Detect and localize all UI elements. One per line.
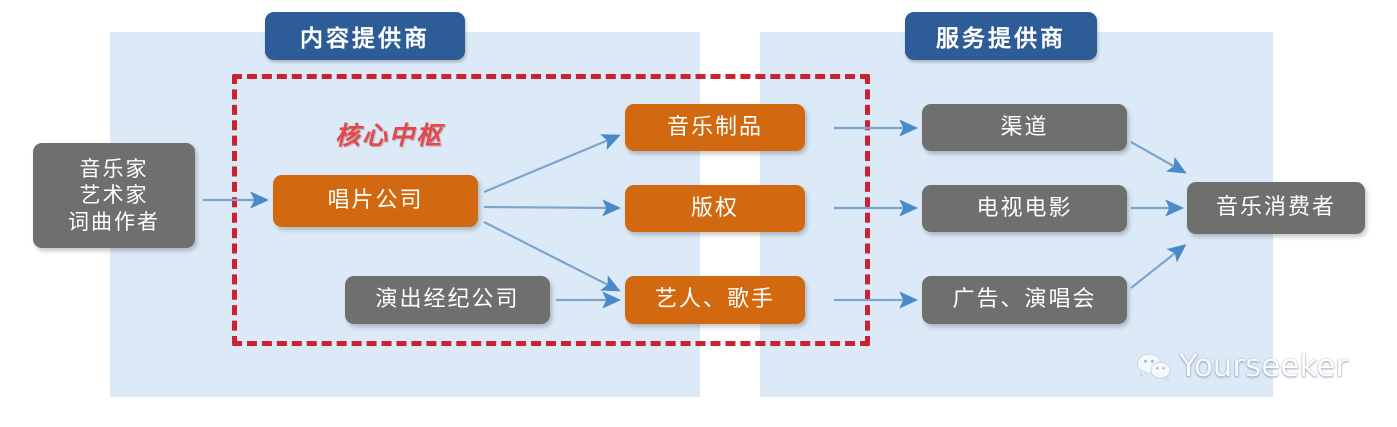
node-label-company[interactable]: 唱片公司: [273, 175, 478, 227]
wechat-icon: [1137, 352, 1171, 381]
node-creators-line-2: 艺术家: [80, 182, 149, 208]
node-creators[interactable]: 音乐家 艺术家 词曲作者: [33, 143, 195, 248]
node-channel[interactable]: 渠道: [922, 104, 1127, 151]
node-tv-film[interactable]: 电视电影: [922, 185, 1127, 232]
section-header-service-provider: 服务提供商: [905, 12, 1097, 60]
section-header-content-provider: 内容提供商: [265, 12, 465, 60]
node-creators-line-3: 词曲作者: [68, 209, 160, 235]
watermark-text: Yourseeker: [1179, 348, 1348, 384]
diagram-canvas: 内容提供商 服务提供商 核心中枢 音乐家 艺术家 词曲作者 唱片公司: [0, 0, 1397, 427]
node-performance-agency[interactable]: 演出经纪公司: [345, 276, 550, 324]
node-artists-singers[interactable]: 艺人、歌手: [625, 276, 805, 324]
node-creators-line-1: 音乐家: [80, 156, 149, 182]
node-copyright[interactable]: 版权: [625, 185, 805, 232]
node-music-product[interactable]: 音乐制品: [625, 104, 805, 151]
node-ads-concert[interactable]: 广告、演唱会: [922, 276, 1127, 324]
node-music-consumers[interactable]: 音乐消费者: [1187, 182, 1365, 234]
core-hub-label: 核心中枢: [335, 116, 443, 152]
watermark: Yourseeker: [1137, 348, 1348, 384]
